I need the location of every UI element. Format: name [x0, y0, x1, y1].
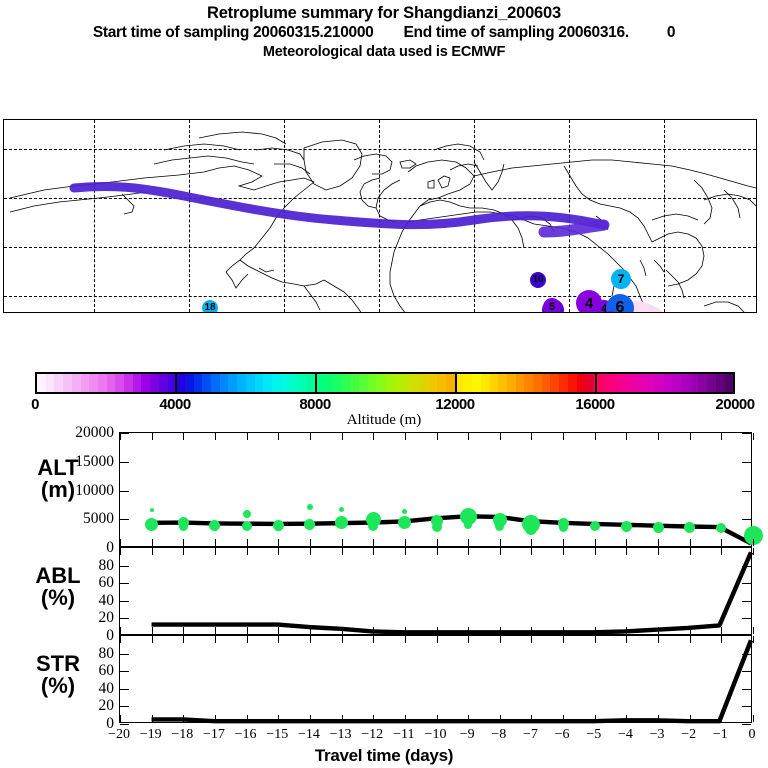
colorbar-cell [716, 374, 725, 392]
x-axis-tick [152, 433, 153, 440]
x-axis-tick [626, 627, 627, 634]
x-axis-tick [373, 636, 374, 643]
x-axis-tick [563, 636, 564, 643]
x-axis-tick [721, 548, 722, 555]
colorbar-separator [455, 372, 457, 394]
map-trajectory-marker[interactable]: 18 [202, 300, 218, 313]
colorbar-cell [72, 374, 81, 392]
x-axis-tick [753, 715, 754, 722]
x-axis-tick [658, 627, 659, 634]
x-axis-tick [342, 539, 343, 546]
x-axis-tick [437, 539, 438, 546]
colorbar-cell [359, 374, 368, 392]
colorbar-cell [490, 374, 499, 392]
colorbar-cell [707, 374, 716, 392]
x-axis-tick [215, 548, 216, 555]
colorbar-cell [63, 374, 72, 392]
x-axis-tick [183, 433, 184, 440]
colorbar-cell [690, 374, 699, 392]
colorbar-cell [185, 374, 194, 392]
x-axis-tick [152, 548, 153, 555]
colorbar-cell [289, 374, 298, 392]
map-trajectory-marker[interactable]: 7 [611, 269, 631, 289]
alt-scatter-point [590, 521, 600, 531]
x-axis-tick-label: −13 [330, 727, 352, 743]
colorbar-cell [237, 374, 246, 392]
x-axis-tick [626, 548, 627, 555]
x-axis-tick [753, 539, 754, 546]
colorbar-tick-label: 12000 [435, 396, 474, 413]
map-trajectory-marker[interactable]: 7 [580, 312, 600, 313]
x-axis-tick-label: −8 [491, 727, 506, 743]
x-axis-tick [468, 715, 469, 722]
x-axis-tick [658, 715, 659, 722]
y-axis-tick-label: 5000 [0, 510, 122, 528]
y-axis-tick [742, 618, 751, 619]
x-axis-tick [721, 433, 722, 440]
x-axis-tick-label: −15 [266, 727, 288, 743]
alt-scatter-point [145, 518, 158, 531]
y-axis-tick-label: 60 [0, 662, 122, 680]
x-axis-tick [342, 548, 343, 555]
x-axis-tick [468, 627, 469, 634]
colorbar-cell [255, 374, 264, 392]
end-time-label: End time of sampling 20060316. [404, 24, 629, 41]
colorbar-cell [472, 374, 481, 392]
x-axis-tick [437, 433, 438, 440]
x-axis-tick [120, 636, 121, 643]
x-axis-tick [595, 539, 596, 546]
x-axis-tick [278, 627, 279, 634]
x-axis-tick [278, 636, 279, 643]
x-axis-tick [563, 433, 564, 440]
colorbar-cell [368, 374, 377, 392]
x-axis-tick [120, 715, 121, 722]
x-axis-tick [531, 548, 532, 555]
y-axis-tick-label: 80 [0, 645, 122, 663]
map-trajectory-marker[interactable]: 10 [530, 272, 546, 288]
x-axis-tick [120, 539, 121, 546]
colorbar-cell [176, 374, 185, 392]
x-axis-tick [658, 433, 659, 440]
colorbar-cell [559, 374, 568, 392]
colorbar-cell [725, 374, 734, 392]
colorbar-cell [107, 374, 116, 392]
y-axis-tick-label: 15000 [0, 453, 122, 471]
colorbar-separator [315, 372, 317, 394]
colorbar-cell [603, 374, 612, 392]
altitude-colorbar-panel: 040008000120001600020000 Altitude (m) [0, 368, 768, 430]
x-axis-tick [247, 548, 248, 555]
colorbar-cell [246, 374, 255, 392]
colorbar-cell [159, 374, 168, 392]
colorbar-cell [681, 374, 690, 392]
map-trajectory-marker[interactable]: 5 [543, 298, 561, 313]
x-axis-tick [721, 539, 722, 546]
x-axis-tick-label: −17 [203, 727, 225, 743]
x-axis-tick-label: −16 [235, 727, 257, 743]
alt-scatter-point [150, 508, 154, 512]
x-axis-tick [152, 539, 153, 546]
x-axis-tick [690, 548, 691, 555]
x-axis-tick [152, 715, 153, 722]
abl-line-series [120, 548, 751, 634]
x-axis-tick [310, 636, 311, 643]
x-axis-tick [531, 715, 532, 722]
x-axis-tick [563, 715, 564, 722]
y-axis-tick-label: 60 [0, 574, 122, 592]
x-axis-tick [405, 433, 406, 440]
colorbar-cell [342, 374, 351, 392]
alt-panel[interactable]: 05000100001500020000 [119, 432, 752, 547]
colorbar-cell [385, 374, 394, 392]
colorbar-cell [429, 374, 438, 392]
y-axis-tick [742, 433, 751, 434]
colorbar-cell [37, 374, 46, 392]
x-axis-tick [247, 715, 248, 722]
colorbar-cell [150, 374, 159, 392]
x-axis-tick [563, 539, 564, 546]
colorbar-cell [655, 374, 664, 392]
x-axis-tick [247, 433, 248, 440]
alt-scatter-point [335, 516, 348, 529]
x-axis-tick [500, 715, 501, 722]
x-axis-tick [215, 539, 216, 546]
colorbar-cell [324, 374, 333, 392]
colorbar-cell [141, 374, 150, 392]
x-axis-tick [626, 715, 627, 722]
x-axis-tick-label: −9 [460, 727, 475, 743]
colorbar-cell [115, 374, 124, 392]
retroplume-map[interactable]: 1919181717161516141415131319121211151311… [3, 119, 757, 313]
timeseries-area: ALT (m) ABL (%) STR (%) 0500010000150002… [0, 425, 768, 768]
met-data-label: Meteorological data used is ECMWF [0, 43, 768, 62]
colorbar-cell [124, 374, 133, 392]
colorbar-cell [194, 374, 203, 392]
x-axis-tick [500, 433, 501, 440]
x-axis-tick [310, 715, 311, 722]
colorbar-cell [211, 374, 220, 392]
colorbar-cell [446, 374, 455, 392]
y-axis-tick [742, 724, 751, 725]
x-axis-tick [373, 548, 374, 555]
colorbar-cell [698, 374, 707, 392]
x-axis-tick [690, 715, 691, 722]
colorbar-tick-label: 20000 [715, 396, 754, 413]
x-axis-tick [690, 433, 691, 440]
colorbar-cell [272, 374, 281, 392]
colorbar-cell [298, 374, 307, 392]
y-axis-tick [742, 491, 751, 492]
x-axis-tick [626, 636, 627, 643]
x-axis-tick [183, 627, 184, 634]
colorbar-cell [263, 374, 272, 392]
x-axis-tick-label: −10 [425, 727, 447, 743]
colorbar-cell [333, 374, 342, 392]
sampling-time-line: Start time of sampling 20060315.210000 E… [0, 23, 768, 43]
colorbar-cell [281, 374, 290, 392]
abl-panel[interactable]: 020406080 [119, 547, 752, 635]
y-axis-tick [742, 583, 751, 584]
x-axis-tick [753, 627, 754, 634]
x-axis-tick [247, 627, 248, 634]
x-axis-tick [468, 539, 469, 546]
x-axis-tick [120, 433, 121, 440]
colorbar-cell [411, 374, 420, 392]
x-axis-tick [626, 539, 627, 546]
colorbar-cell [550, 374, 559, 392]
x-axis-tick [658, 636, 659, 643]
x-axis-tick [468, 433, 469, 440]
x-axis-tick-label: −6 [555, 727, 570, 743]
colorbar-cell [507, 374, 516, 392]
x-axis-tick [531, 539, 532, 546]
y-axis-tick-label: 20000 [0, 424, 122, 442]
colorbar-cell [646, 374, 655, 392]
x-axis-tick-label: −7 [523, 727, 538, 743]
x-axis-tick [437, 636, 438, 643]
x-axis-tick [183, 636, 184, 643]
x-axis-tick [310, 627, 311, 634]
page-title: Retroplume summary for Shangdianzi_20060… [0, 3, 768, 23]
colorbar-cell [664, 374, 673, 392]
y-axis-tick [742, 519, 751, 520]
x-axis-tick [500, 539, 501, 546]
colorbar-cell [672, 374, 681, 392]
x-axis-tick [437, 715, 438, 722]
alt-scatter-point [339, 507, 344, 512]
y-axis-tick-label: 20 [0, 697, 122, 715]
colorbar-cell [516, 374, 525, 392]
colorbar-separator [175, 372, 177, 394]
y-axis-tick [742, 654, 751, 655]
x-axis-tick [183, 715, 184, 722]
x-axis-tick [563, 548, 564, 555]
alt-scatter-point [179, 522, 188, 531]
alt-scatter-point [653, 522, 664, 533]
y-axis-tick-label: 80 [0, 557, 122, 575]
altitude-colorbar[interactable] [35, 372, 735, 394]
colorbar-cell [524, 374, 533, 392]
colorbar-cell [481, 374, 490, 392]
x-axis-tick [531, 627, 532, 634]
x-axis-tick [405, 627, 406, 634]
x-axis-tick [405, 548, 406, 555]
alt-scatter-point [559, 523, 568, 532]
y-axis-tick-label: 0 [0, 539, 122, 557]
x-axis-tick-label: 0 [749, 727, 756, 743]
colorbar-tick-label: 4000 [159, 396, 190, 413]
x-axis-tick [373, 433, 374, 440]
x-axis-tick-label: −12 [361, 727, 383, 743]
x-axis-tick [595, 715, 596, 722]
y-axis-tick-label: 0 [0, 715, 122, 733]
x-axis-tick [437, 627, 438, 634]
x-axis-tick [721, 636, 722, 643]
x-axis-tick [595, 433, 596, 440]
x-axis-tick [152, 636, 153, 643]
x-axis-tick [658, 548, 659, 555]
x-axis-tick [278, 715, 279, 722]
colorbar-cell [620, 374, 629, 392]
y-axis-tick-label: 40 [0, 592, 122, 610]
start-time-label: Start time of sampling 20060315.210000 [93, 24, 374, 41]
x-axis-tick-label: −20 [108, 727, 130, 743]
x-axis-tick [690, 539, 691, 546]
map-gridline-lat [4, 198, 756, 199]
colorbar-tick-label: 0 [31, 396, 39, 413]
x-axis-tick [152, 627, 153, 634]
map-gridline-lat [4, 296, 756, 297]
x-axis-tick [595, 636, 596, 643]
x-axis-tick [595, 548, 596, 555]
x-axis-tick [405, 539, 406, 546]
colorbar-cell [437, 374, 446, 392]
x-axis-tick [215, 433, 216, 440]
x-axis-tick-label: −5 [586, 727, 601, 743]
x-axis-tick [215, 636, 216, 643]
colorbar-cell [568, 374, 577, 392]
x-axis-tick [531, 433, 532, 440]
colorbar-cell [420, 374, 429, 392]
colorbar-separator [595, 372, 597, 394]
x-axis-tick [120, 627, 121, 634]
x-axis-tick [215, 715, 216, 722]
y-axis-tick [742, 566, 751, 567]
x-axis-tick [247, 636, 248, 643]
colorbar-cell [611, 374, 620, 392]
y-axis-tick [742, 601, 751, 602]
x-axis-tick [342, 433, 343, 440]
colorbar-cell [98, 374, 107, 392]
colorbar-tick-label: 16000 [575, 396, 614, 413]
x-axis-tick [690, 636, 691, 643]
x-axis-tick [310, 539, 311, 546]
x-axis-tick [342, 627, 343, 634]
x-axis-tick [310, 548, 311, 555]
x-axis-tick-label: −4 [618, 727, 633, 743]
colorbar-cell [81, 374, 90, 392]
x-axis-tick-label: −3 [650, 727, 665, 743]
x-axis-tick-label: −2 [681, 727, 696, 743]
alt-scatter-point [242, 521, 252, 531]
map-gridline-lat [4, 149, 756, 150]
colorbar-cell [577, 374, 586, 392]
colorbar-cell [585, 374, 594, 392]
x-axis-tick-label: −19 [140, 727, 162, 743]
x-axis-tick [183, 539, 184, 546]
x-axis-tick [342, 636, 343, 643]
alt-scatter-point [304, 519, 315, 530]
x-axis-tick [468, 636, 469, 643]
x-axis-tick [405, 636, 406, 643]
x-axis-tick [278, 433, 279, 440]
x-axis-tick [278, 539, 279, 546]
x-axis-tick [468, 548, 469, 555]
colorbar-cell [202, 374, 211, 392]
colorbar-cell [220, 374, 229, 392]
x-axis-tick [437, 548, 438, 555]
colorbar-cell [133, 374, 142, 392]
colorbar-cell [394, 374, 403, 392]
x-axis-tick [215, 627, 216, 634]
x-axis-tick [721, 715, 722, 722]
x-axis-tick [626, 433, 627, 440]
colorbar-cell [350, 374, 359, 392]
x-axis-tick-label: −18 [171, 727, 193, 743]
colorbar-cell [542, 374, 551, 392]
x-axis-tick [753, 433, 754, 440]
x-axis-tick [278, 548, 279, 555]
x-axis-tick-label: −14 [298, 727, 320, 743]
colorbar-tick-label: 8000 [299, 396, 330, 413]
x-axis-tick [373, 627, 374, 634]
colorbar-cell [498, 374, 507, 392]
y-axis-tick-label: 0 [0, 627, 122, 645]
y-axis-tick-label: 20 [0, 609, 122, 627]
x-axis-tick-label: −1 [713, 727, 728, 743]
colorbar-cell [89, 374, 98, 392]
map-gridline-lat [4, 247, 756, 248]
x-axis-tick-label: −11 [393, 727, 414, 743]
alt-scatter-point [243, 510, 251, 518]
y-axis-tick [742, 706, 751, 707]
alt-scatter-point [432, 522, 442, 532]
x-axis-tick [247, 539, 248, 546]
y-axis-tick [742, 671, 751, 672]
x-axis-tick [373, 715, 374, 722]
colorbar-cell [228, 374, 237, 392]
str-panel[interactable]: 020406080 [119, 635, 752, 723]
colorbar-cell [376, 374, 385, 392]
x-axis-tick [690, 627, 691, 634]
map-inner: 1919181717161516141415131319121211151311… [4, 120, 756, 312]
x-axis-tick [753, 636, 754, 643]
x-axis-tick [310, 433, 311, 440]
colorbar-cell [403, 374, 412, 392]
x-axis-tick [373, 539, 374, 546]
y-axis-tick-label: 10000 [0, 482, 122, 500]
x-axis-tick [500, 636, 501, 643]
y-axis-tick [742, 689, 751, 690]
x-axis-tick [658, 539, 659, 546]
x-axis-tick [531, 636, 532, 643]
x-axis-tick [721, 627, 722, 634]
x-axis-tick [753, 548, 754, 555]
title-block: Retroplume summary for Shangdianzi_20060… [0, 0, 768, 62]
colorbar-cell [629, 374, 638, 392]
alt-scatter-point [495, 522, 504, 531]
x-axis-tick [405, 715, 406, 722]
xaxis-title: Travel time (days) [0, 746, 768, 766]
colorbar-cell [463, 374, 472, 392]
colorbar-cell [46, 374, 55, 392]
y-axis-tick [742, 462, 751, 463]
x-axis-tick [500, 627, 501, 634]
x-axis-tick [183, 548, 184, 555]
str-line-series [120, 636, 751, 722]
x-axis-tick [500, 548, 501, 555]
x-axis-tick [342, 715, 343, 722]
x-axis-tick [595, 627, 596, 634]
colorbar-cell [638, 374, 647, 392]
colorbar-cell [533, 374, 542, 392]
x-axis-tick [120, 548, 121, 555]
colorbar-cell [54, 374, 63, 392]
x-axis-tick [563, 627, 564, 634]
end-time-value: 0 [667, 24, 675, 41]
y-axis-tick-label: 40 [0, 680, 122, 698]
